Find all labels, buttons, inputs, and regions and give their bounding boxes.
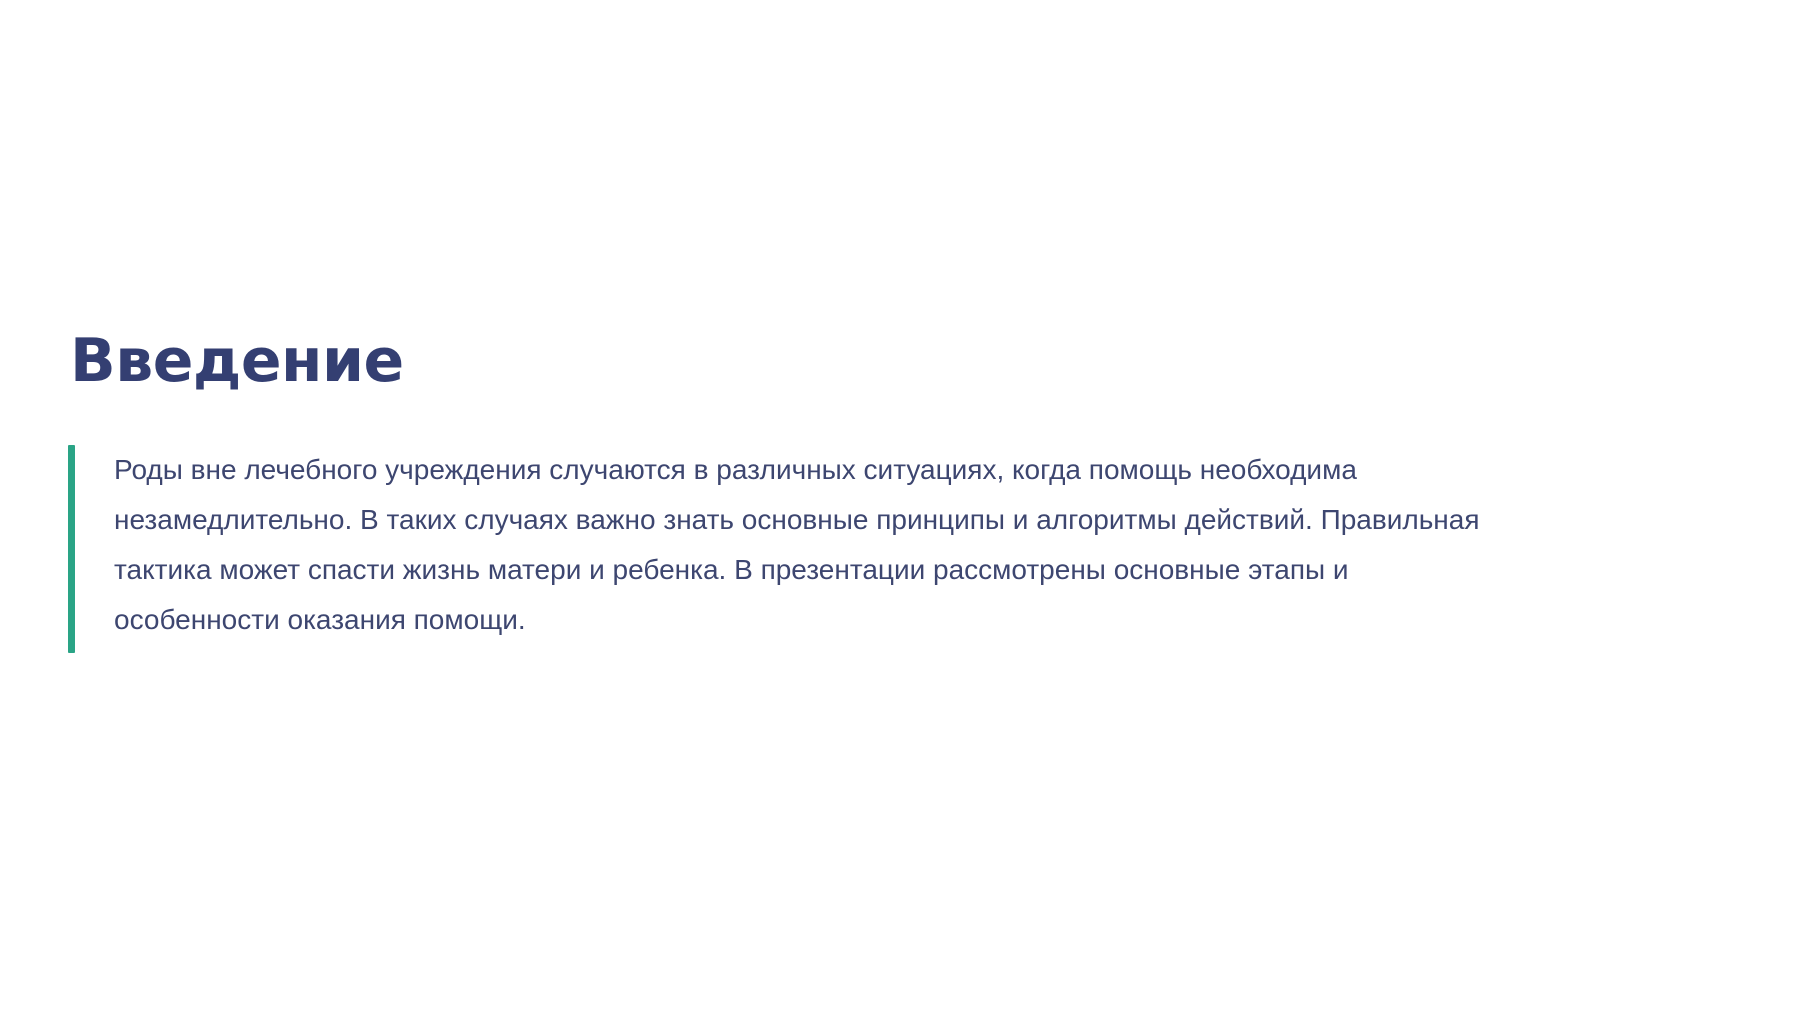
intro-body-block: Роды вне лечебного учреждения случаются …: [68, 445, 1748, 645]
intro-paragraph: Роды вне лечебного учреждения случаются …: [114, 445, 1514, 645]
presentation-slide: Введение Роды вне лечебного учреждения с…: [0, 0, 1800, 1013]
slide-content: Введение Роды вне лечебного учреждения с…: [68, 330, 1748, 645]
accent-bar: [68, 445, 75, 653]
page-title: Введение: [70, 330, 1748, 393]
